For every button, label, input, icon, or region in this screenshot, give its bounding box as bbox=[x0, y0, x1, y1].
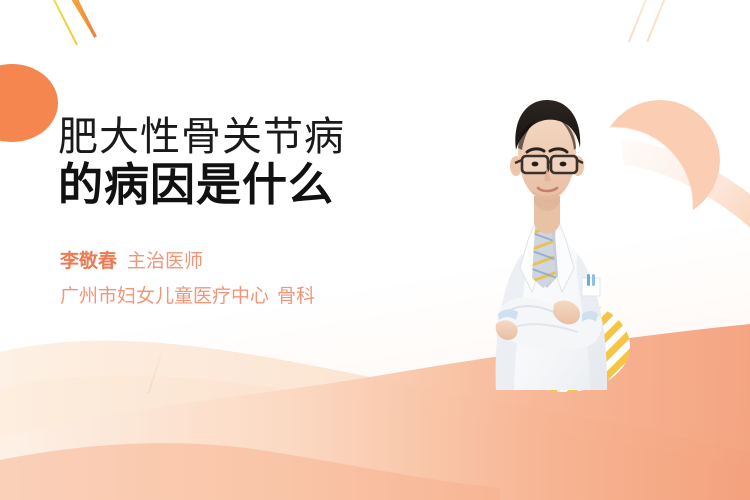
hospital-name: 广州市妇女儿童医疗中心 bbox=[60, 286, 269, 307]
hospital-row: 广州市妇女儿童医疗中心骨科 bbox=[60, 282, 480, 312]
thumbnail-card: 肥大性骨关节病 的病因是什么 李敬春主治医师 广州市妇女儿童医疗中心骨科 bbox=[0, 0, 750, 500]
doctor-name-row: 李敬春主治医师 bbox=[60, 248, 480, 276]
title-block: 肥大性骨关节病 的病因是什么 bbox=[58, 112, 458, 212]
doctor-portrait-image bbox=[432, 92, 662, 390]
doctor-title: 主治医师 bbox=[127, 251, 203, 272]
department-name: 骨科 bbox=[277, 286, 315, 307]
doctor-name: 李敬春 bbox=[60, 251, 117, 272]
glasses-icon bbox=[515, 156, 583, 173]
title-line-2: 的病因是什么 bbox=[58, 158, 458, 212]
title-line-1: 肥大性骨关节病 bbox=[58, 112, 458, 162]
doctor-credits: 李敬春主治医师 广州市妇女儿童医疗中心骨科 bbox=[60, 248, 480, 312]
